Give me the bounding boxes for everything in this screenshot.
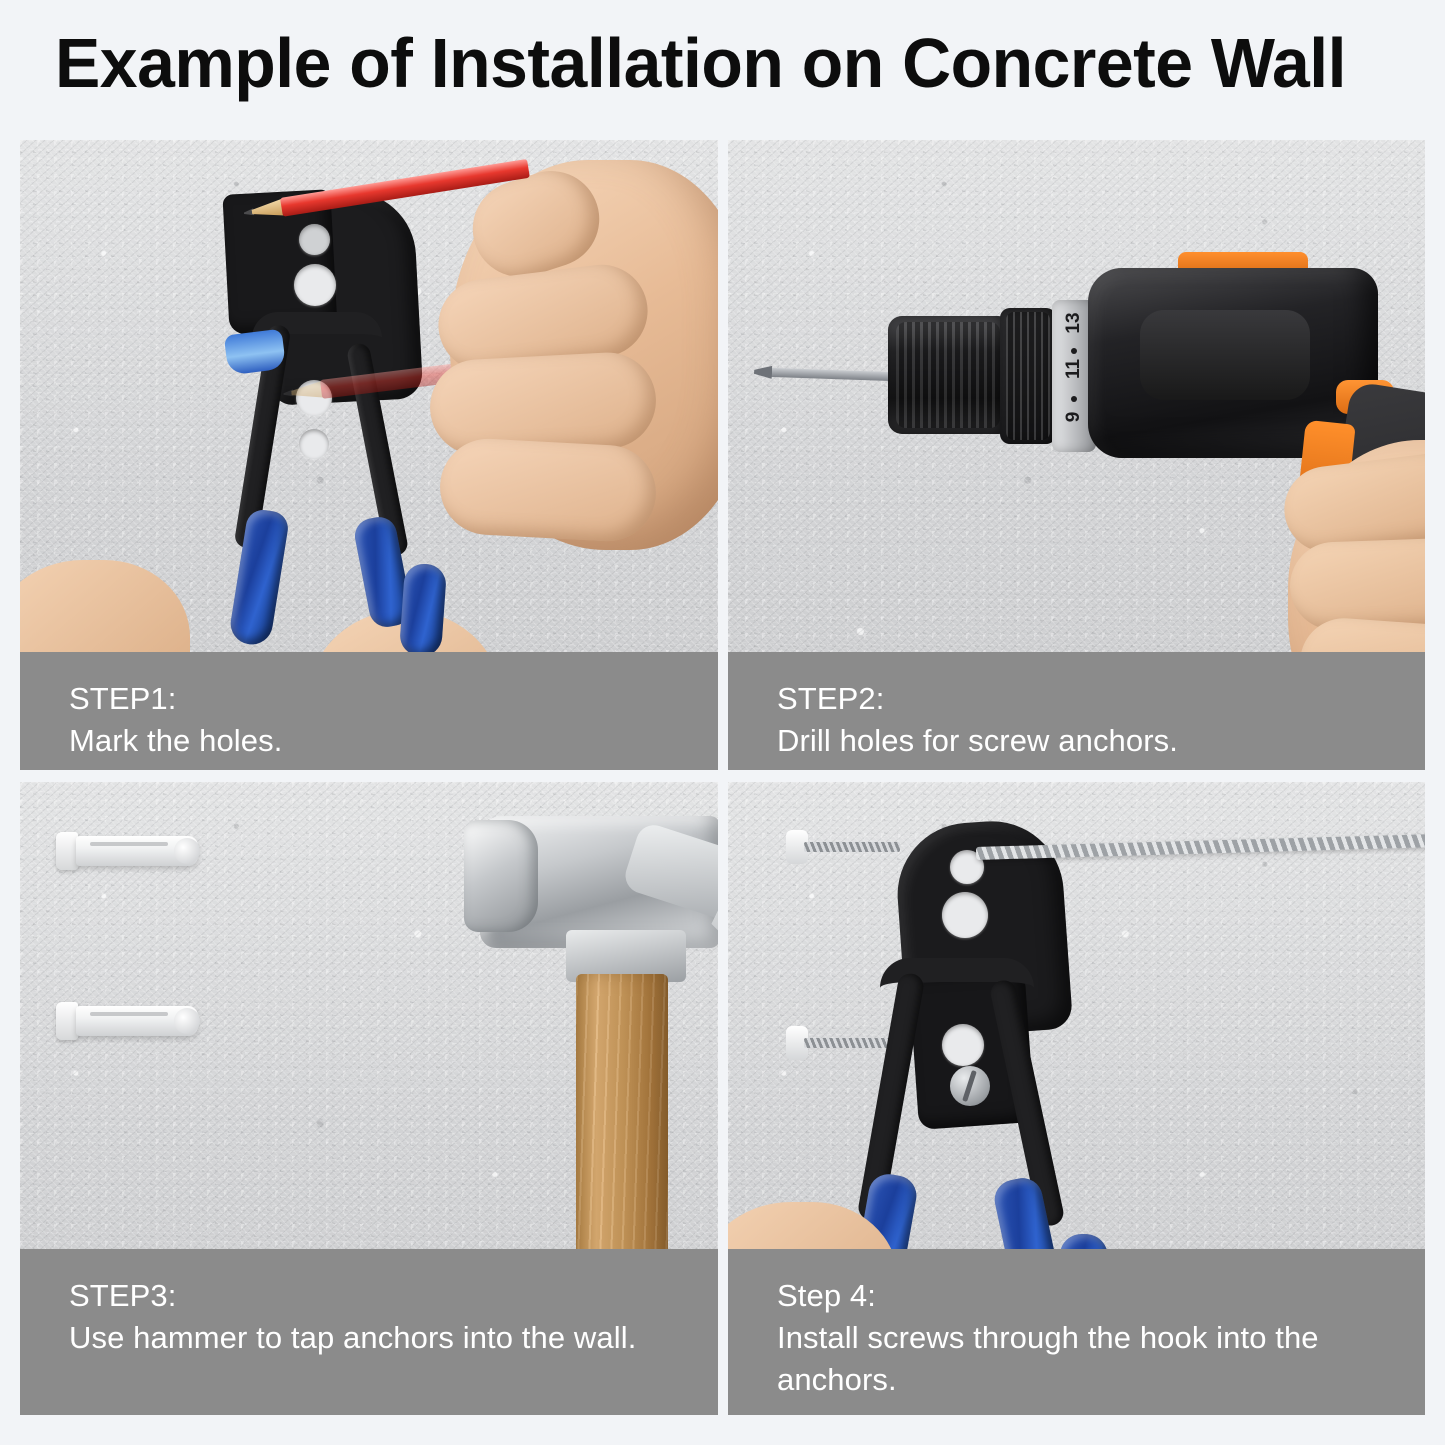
drill-body-panel [1140,310,1310,400]
anchor-slit [90,1012,168,1016]
hook-hole-4 [299,429,329,459]
clutch-number-9: 9 [1063,391,1085,443]
step-4-label: Step 4: [777,1275,1425,1317]
hammer-striking-face [464,820,538,932]
finger-little [438,436,659,543]
step-4-caption: Step 4: Install screws through the hook … [728,1249,1425,1415]
step-3-caption: STEP3: Use hammer to tap anchors into th… [20,1249,718,1415]
clutch-number-11: 11 [1063,343,1085,395]
page-title: Example of Installation on Concrete Wall [55,28,1346,98]
anchor-collar [56,832,78,870]
hook-hole-3 [942,1024,984,1066]
steps-grid: STEP1: Mark the holes. 13 11 9 [20,140,1425,1415]
step-panel-1: STEP1: Mark the holes. [20,140,718,770]
wall-anchor-lower [56,1000,206,1042]
hook-hole-2 [942,892,988,938]
step-panel-2: 13 11 9 STEP2: Dr [728,140,1425,770]
wall-anchor-lower [786,1026,896,1060]
drill-chuck [888,316,1008,434]
finger-middle [1289,537,1425,632]
step-panel-3: STEP3: Use hammer to tap anchors into th… [20,782,718,1415]
step-2-text: Drill holes for screw anchors. [777,720,1425,762]
clutch-number-13: 13 [1063,297,1085,349]
step-3-text: Use hammer to tap anchors into the wall. [69,1317,718,1359]
step-1-caption: STEP1: Mark the holes. [20,652,718,770]
screw-head-installed [950,1066,990,1106]
wall-anchor-upper [56,830,206,872]
step-4-text: Install screws through the hook into the… [777,1317,1425,1401]
hook-hole-1 [299,224,330,255]
anchor-collar [56,1002,78,1040]
anchor-mouth [174,1008,200,1034]
anchor-mouth [174,838,200,864]
step-panel-4: Step 4: Install screws through the hook … [728,782,1425,1415]
step-2-caption: STEP2: Drill holes for screw anchors. [728,652,1425,770]
wall-anchor-upper [786,830,896,864]
step-1-label: STEP1: [69,678,718,720]
hook-tip-upturn [399,563,447,658]
installation-guide-page: Example of Installation on Concrete Wall [0,0,1445,1445]
step-3-label: STEP3: [69,1275,718,1317]
hook-hole-2 [294,264,336,306]
drill-chuck-ring [1000,308,1056,444]
screw-thread [804,842,900,852]
step-1-text: Mark the holes. [69,720,718,762]
anchor-slit [90,842,168,846]
step-2-label: STEP2: [777,678,1425,720]
